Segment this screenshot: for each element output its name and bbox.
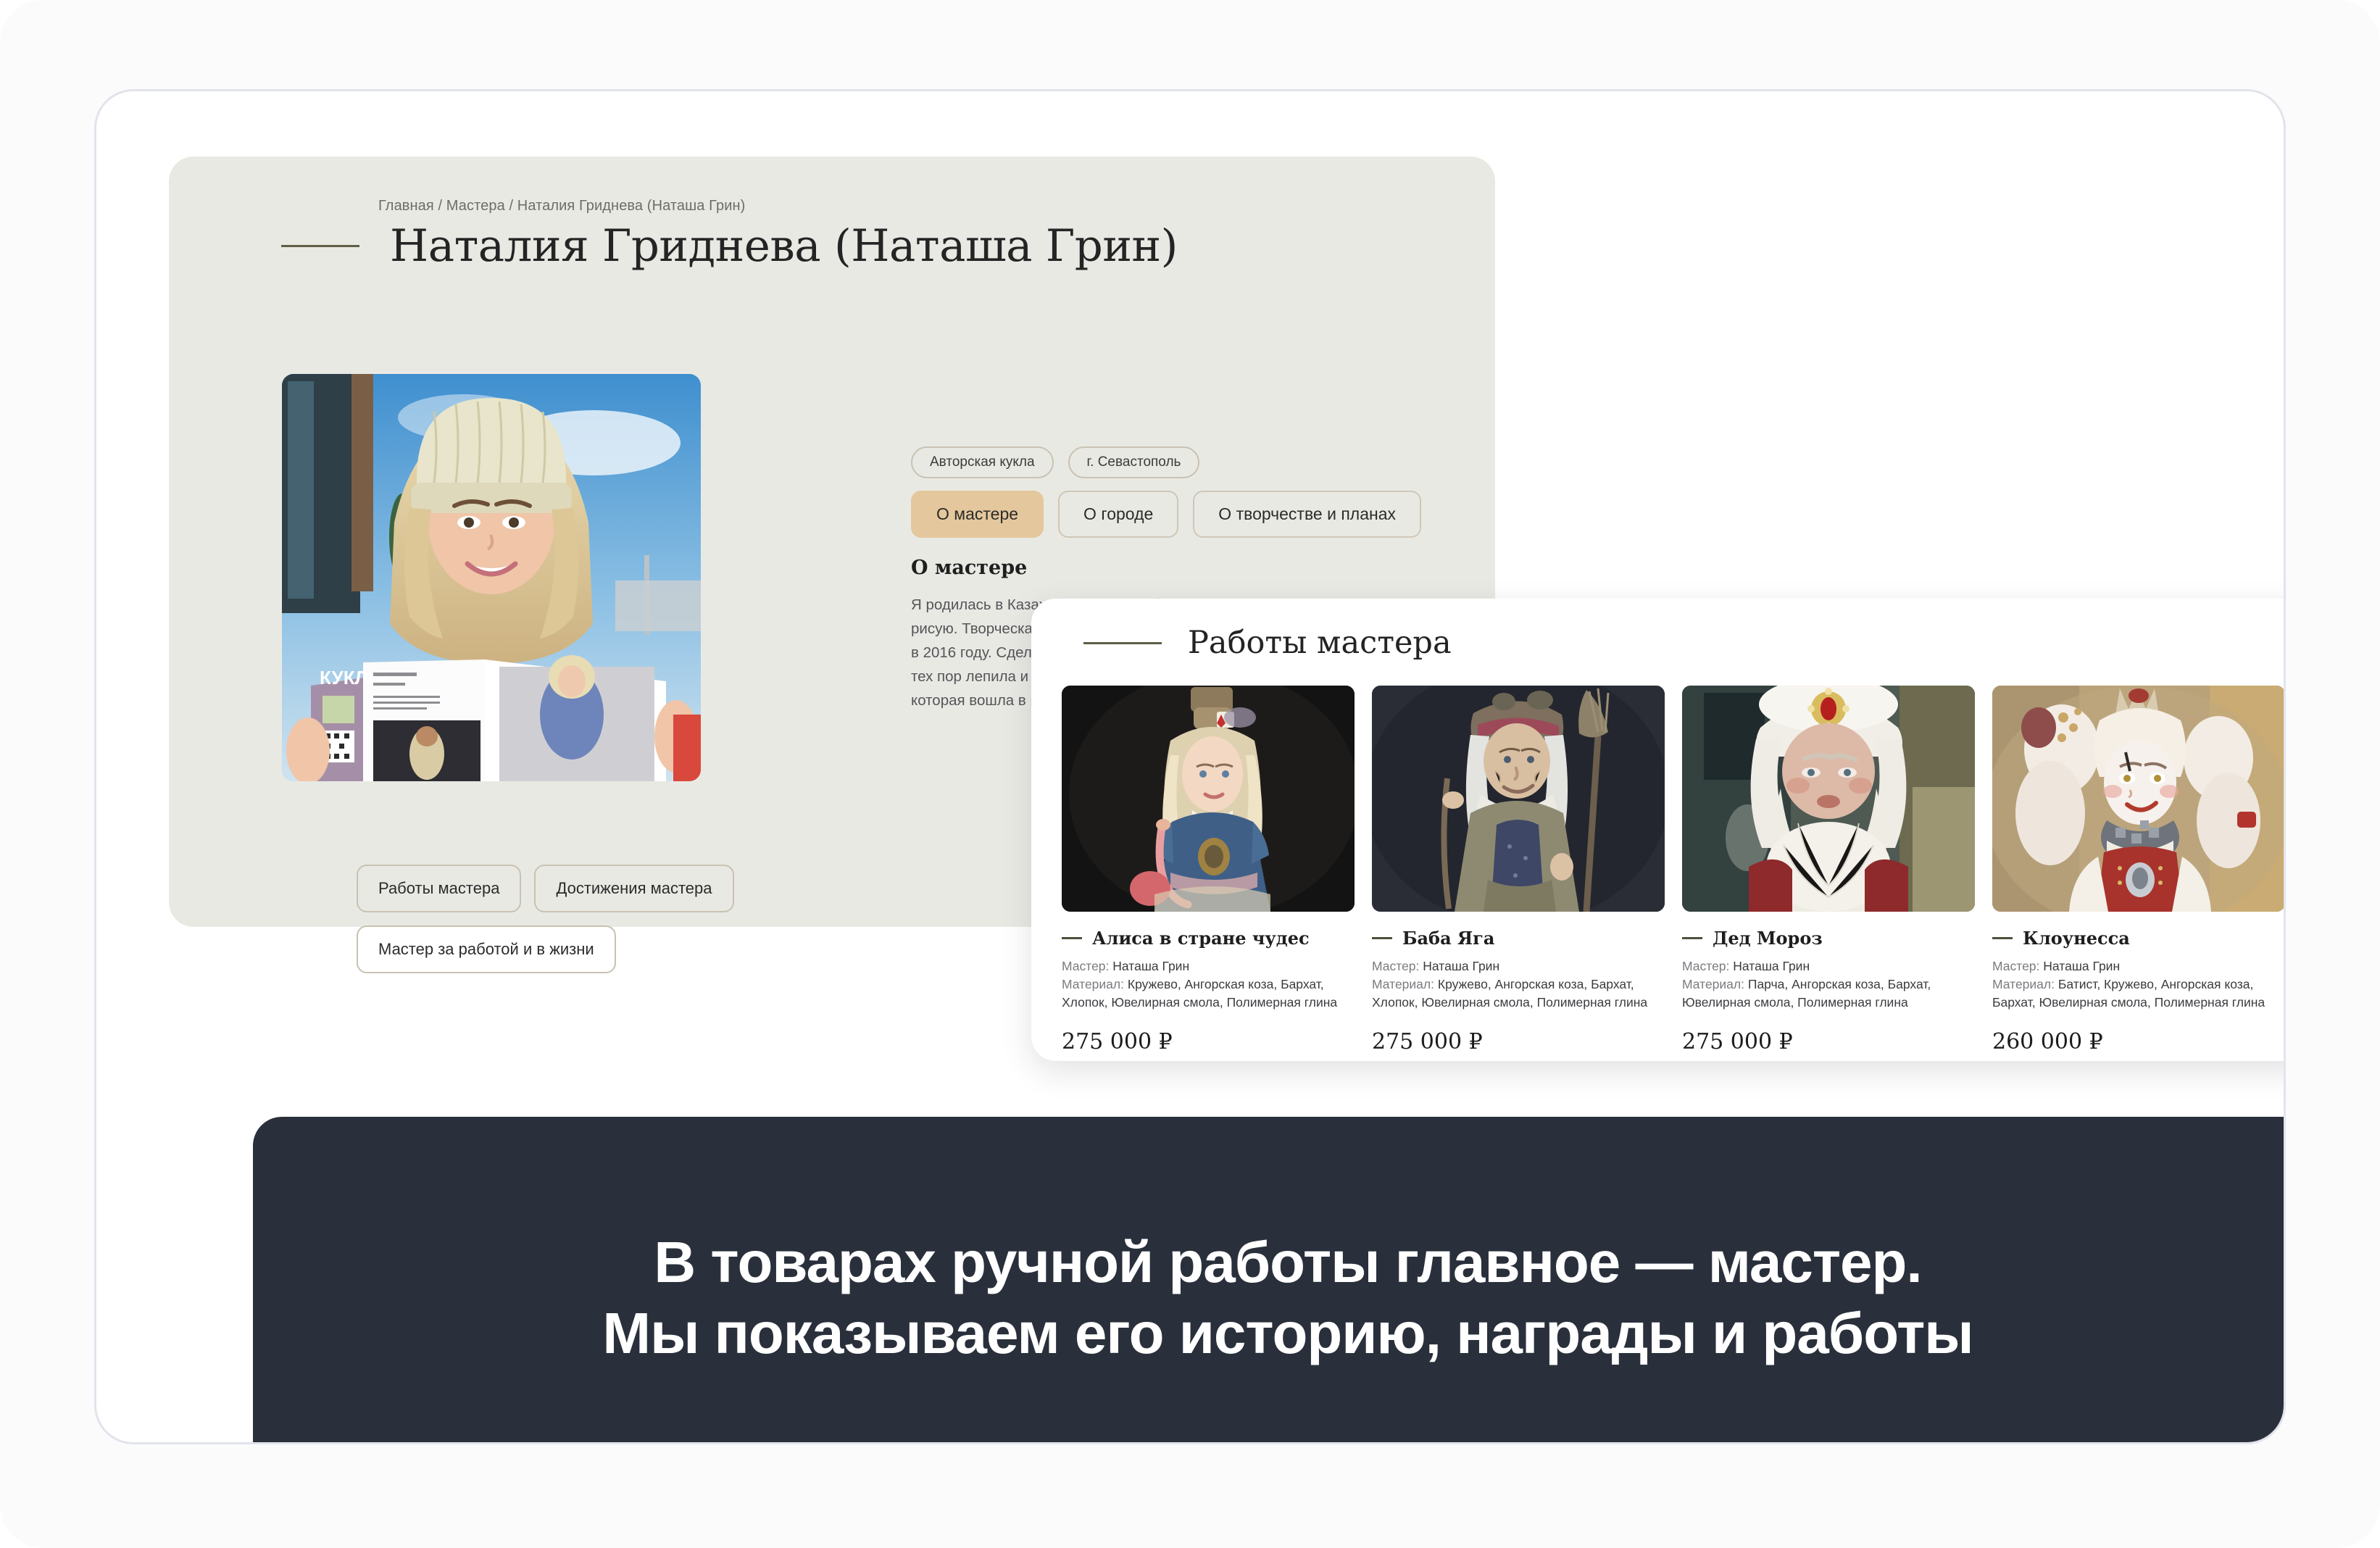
button-master-achievements[interactable]: Достижения мастера — [534, 865, 733, 912]
breadcrumb[interactable]: Главная / Мастера / Наталия Гриднева (На… — [378, 198, 745, 215]
portrait-illustration: КУКЛЫ — [282, 374, 701, 781]
work-meta: Мастер: Наташа Грин Материал: Кружево, А… — [1062, 957, 1355, 1012]
caption-line-1: В товарах ручной работы главное — мастер… — [654, 1229, 1921, 1296]
work-material-line: Материал: Парча, Ангорская коза, Бархат,… — [1682, 975, 1975, 1012]
work-master-label: Мастер: — [1992, 959, 2039, 973]
works-title-row: Работы мастера — [1083, 625, 1452, 661]
work-name: Дед Мороз — [1713, 928, 1823, 949]
tab-about-master[interactable]: О мастере — [911, 491, 1044, 538]
work-dash-icon — [1062, 937, 1082, 939]
tab-about-work-plans[interactable]: О творчестве и планах — [1193, 491, 1421, 538]
work-material-label: Материал: — [1372, 977, 1434, 991]
work-name: Клоунесса — [2023, 928, 2130, 949]
profile-action-buttons: Работы мастера Достижения мастера Мастер… — [357, 865, 762, 973]
work-meta: Мастер: Наташа Грин Материал: Кружево, А… — [1372, 957, 1665, 1012]
profile-chip-list: Авторская кукла г. Севастополь — [911, 446, 1199, 478]
work-material-line: Материал: Кружево, Ангорская коза, Барха… — [1372, 975, 1665, 1012]
work-name-row: Дед Мороз — [1682, 928, 1975, 949]
work-name-row: Клоунесса — [1992, 928, 2285, 949]
page-frame: Главная / Мастера / Наталия Гриднева (На… — [0, 0, 2380, 1548]
work-master-line: Мастер: Наташа Грин — [1372, 957, 1665, 975]
work-material-label: Материал: — [1992, 977, 2055, 991]
work-meta: Мастер: Наташа Грин Материал: Парча, Анг… — [1682, 957, 1975, 1012]
page-title-row: Наталия Гриднева (Наташа Грин) — [281, 220, 1178, 272]
work-name: Баба Яга — [1402, 928, 1494, 949]
work-dash-icon — [1372, 937, 1392, 939]
work-master-line: Мастер: Наташа Грин — [1062, 957, 1355, 975]
baba-yaga-doll-illustration — [1372, 686, 1665, 912]
work-master-label: Мастер: — [1062, 959, 1109, 973]
work-master-line: Мастер: Наташа Грин — [1992, 957, 2285, 975]
works-rule-icon — [1083, 642, 1162, 644]
browser-window-card: Главная / Мастера / Наталия Гриднева (На… — [94, 89, 2286, 1444]
page-title: Наталия Гриднева (Наташа Грин) — [390, 220, 1178, 272]
work-material-label: Материал: — [1682, 977, 1744, 991]
work-master-label: Мастер: — [1682, 959, 1729, 973]
profile-tabs: О мастере О городе О творчестве и планах — [911, 491, 1421, 538]
work-name-row: Алиса в стране чудес — [1062, 928, 1355, 949]
work-master-line: Мастер: Наташа Грин — [1682, 957, 1975, 975]
work-dash-icon — [1682, 937, 1702, 939]
work-master-label: Мастер: — [1372, 959, 1419, 973]
works-grid: Алиса в стране чудес Мастер: Наташа Грин… — [1062, 686, 2285, 1054]
work-material-line: Материал: Батист, Кружево, Ангорская коз… — [1992, 975, 2285, 1012]
work-thumbnail-clownessa[interactable] — [1992, 686, 2285, 912]
master-portrait-photo: КУКЛЫ — [282, 374, 701, 781]
chip-city[interactable]: г. Севастополь — [1068, 446, 1200, 478]
title-rule-icon — [281, 245, 359, 247]
work-master-value: Наташа Грин — [2043, 959, 2120, 973]
work-price: 275 000 ₽ — [1062, 1029, 1355, 1054]
work-price: 275 000 ₽ — [1682, 1029, 1975, 1054]
tab-about-city[interactable]: О городе — [1058, 491, 1178, 538]
work-thumbnail-alice[interactable] — [1062, 686, 1355, 912]
work-card[interactable]: Алиса в стране чудес Мастер: Наташа Грин… — [1062, 686, 1355, 1054]
caption-line-2: Мы показываем его историю, награды и раб… — [602, 1300, 1973, 1367]
work-card[interactable]: Клоунесса Мастер: Наташа Грин Материал: … — [1992, 686, 2285, 1054]
work-name: Алиса в стране чудес — [1092, 928, 1310, 949]
caption-banner: В товарах ручной работы главное — мастер… — [253, 1117, 2286, 1444]
about-section-heading: О мастере — [911, 557, 1027, 579]
work-price: 260 000 ₽ — [1992, 1029, 2285, 1054]
work-card[interactable]: Баба Яга Мастер: Наташа Грин Материал: К… — [1372, 686, 1665, 1054]
work-material-label: Материал: — [1062, 977, 1124, 991]
work-name-row: Баба Яга — [1372, 928, 1665, 949]
work-master-value: Наташа Грин — [1733, 959, 1810, 973]
work-master-value: Наташа Грин — [1423, 959, 1499, 973]
work-master-value: Наташа Грин — [1112, 959, 1189, 973]
work-material-line: Материал: Кружево, Ангорская коза, Барха… — [1062, 975, 1355, 1012]
work-price: 275 000 ₽ — [1372, 1029, 1665, 1054]
master-works-panel: Работы мастера — [1031, 599, 2286, 1061]
ded-moroz-doll-illustration — [1682, 686, 1975, 912]
work-thumbnail-ded-moroz[interactable] — [1682, 686, 1975, 912]
button-master-at-work[interactable]: Мастер за работой и в жизни — [357, 925, 616, 973]
works-title: Работы мастера — [1188, 625, 1452, 661]
work-meta: Мастер: Наташа Грин Материал: Батист, Кр… — [1992, 957, 2285, 1012]
work-thumbnail-baba-yaga[interactable] — [1372, 686, 1665, 912]
alice-doll-illustration — [1062, 686, 1355, 912]
button-master-works[interactable]: Работы мастера — [357, 865, 521, 912]
work-card[interactable]: Дед Мороз Мастер: Наташа Грин Материал: … — [1682, 686, 1975, 1054]
work-dash-icon — [1992, 937, 2013, 939]
clownessa-doll-illustration — [1992, 686, 2285, 912]
chip-category[interactable]: Авторская кукла — [911, 446, 1054, 478]
